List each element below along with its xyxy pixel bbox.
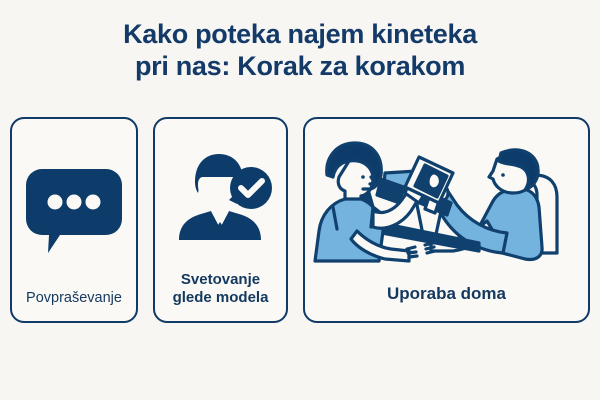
step-card-consulting-label: Svetovanje glede modela [155,271,286,321]
step-card-home-use-art [305,119,588,285]
page-title-line-2: pri nas: Korak za korakom [0,50,600,82]
steps-row: Povpraševanje [10,117,590,323]
step-card-consulting[interactable]: Svetovanje glede modela [153,117,288,323]
home-therapy-illustration [311,135,583,273]
page-title: Kako poteka najem kineteka pri nas: Kora… [0,18,600,82]
step-card-home-use[interactable]: Uporaba doma [303,117,590,323]
step-card-consulting-label-line-1: Svetovanje [155,271,286,289]
page-title-line-1: Kako poteka najem kineteka [0,18,600,50]
step-card-consulting-label-line-2: glede modela [155,289,286,307]
step-card-inquiry-label: Povpraševanje [12,289,136,321]
step-card-inquiry[interactable]: Povpraševanje [10,117,138,323]
step-card-inquiry-art [12,119,136,289]
step-card-home-use-label: Uporaba doma [305,285,588,321]
step-card-consulting-art [155,119,286,271]
person-suit-check-icon [167,144,275,252]
speech-bubble-dots-icon [26,165,122,257]
infographic-root: Kako poteka najem kineteka pri nas: Kora… [0,0,600,400]
